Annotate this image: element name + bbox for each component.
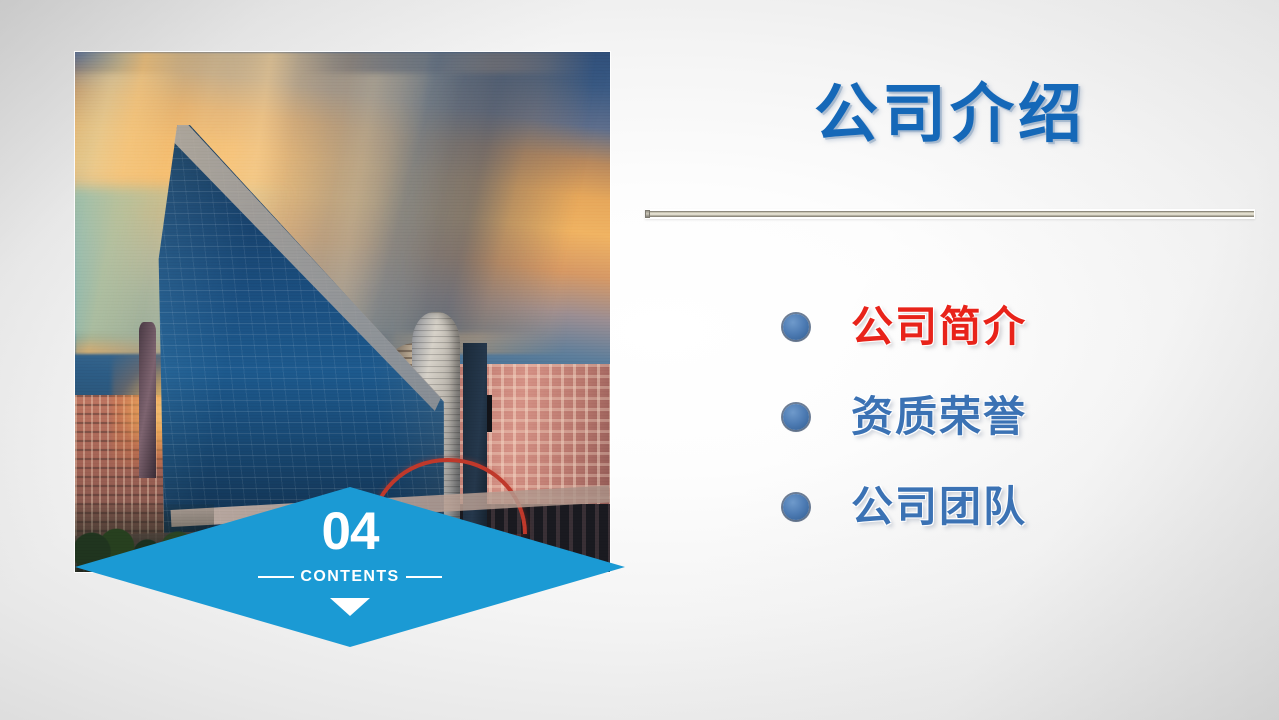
divider-bar xyxy=(646,211,1254,217)
presentation-slide: 04 CONTENTS 公司介绍 公司简介 资质荣誉 公司团队 xyxy=(0,0,1279,720)
list-item[interactable]: 资质荣誉 xyxy=(645,372,1255,462)
agenda-list: 公司简介 资质荣誉 公司团队 xyxy=(645,282,1255,552)
agenda-item-label-1: 公司简介 xyxy=(851,306,1027,348)
circle-bullet-icon xyxy=(783,404,809,430)
title-divider xyxy=(645,209,1255,219)
divider-left-cap xyxy=(645,210,650,218)
title-block: 公司介绍 xyxy=(645,82,1255,149)
list-item[interactable]: 公司团队 xyxy=(645,462,1255,552)
agenda-item-label-2: 资质荣誉 xyxy=(851,396,1027,438)
page-title: 公司介绍 xyxy=(645,82,1255,149)
circle-bullet-icon xyxy=(783,314,809,340)
agenda-item-label-3: 公司团队 xyxy=(851,486,1027,528)
circle-bullet-icon xyxy=(783,494,809,520)
list-item[interactable]: 公司简介 xyxy=(645,282,1255,372)
